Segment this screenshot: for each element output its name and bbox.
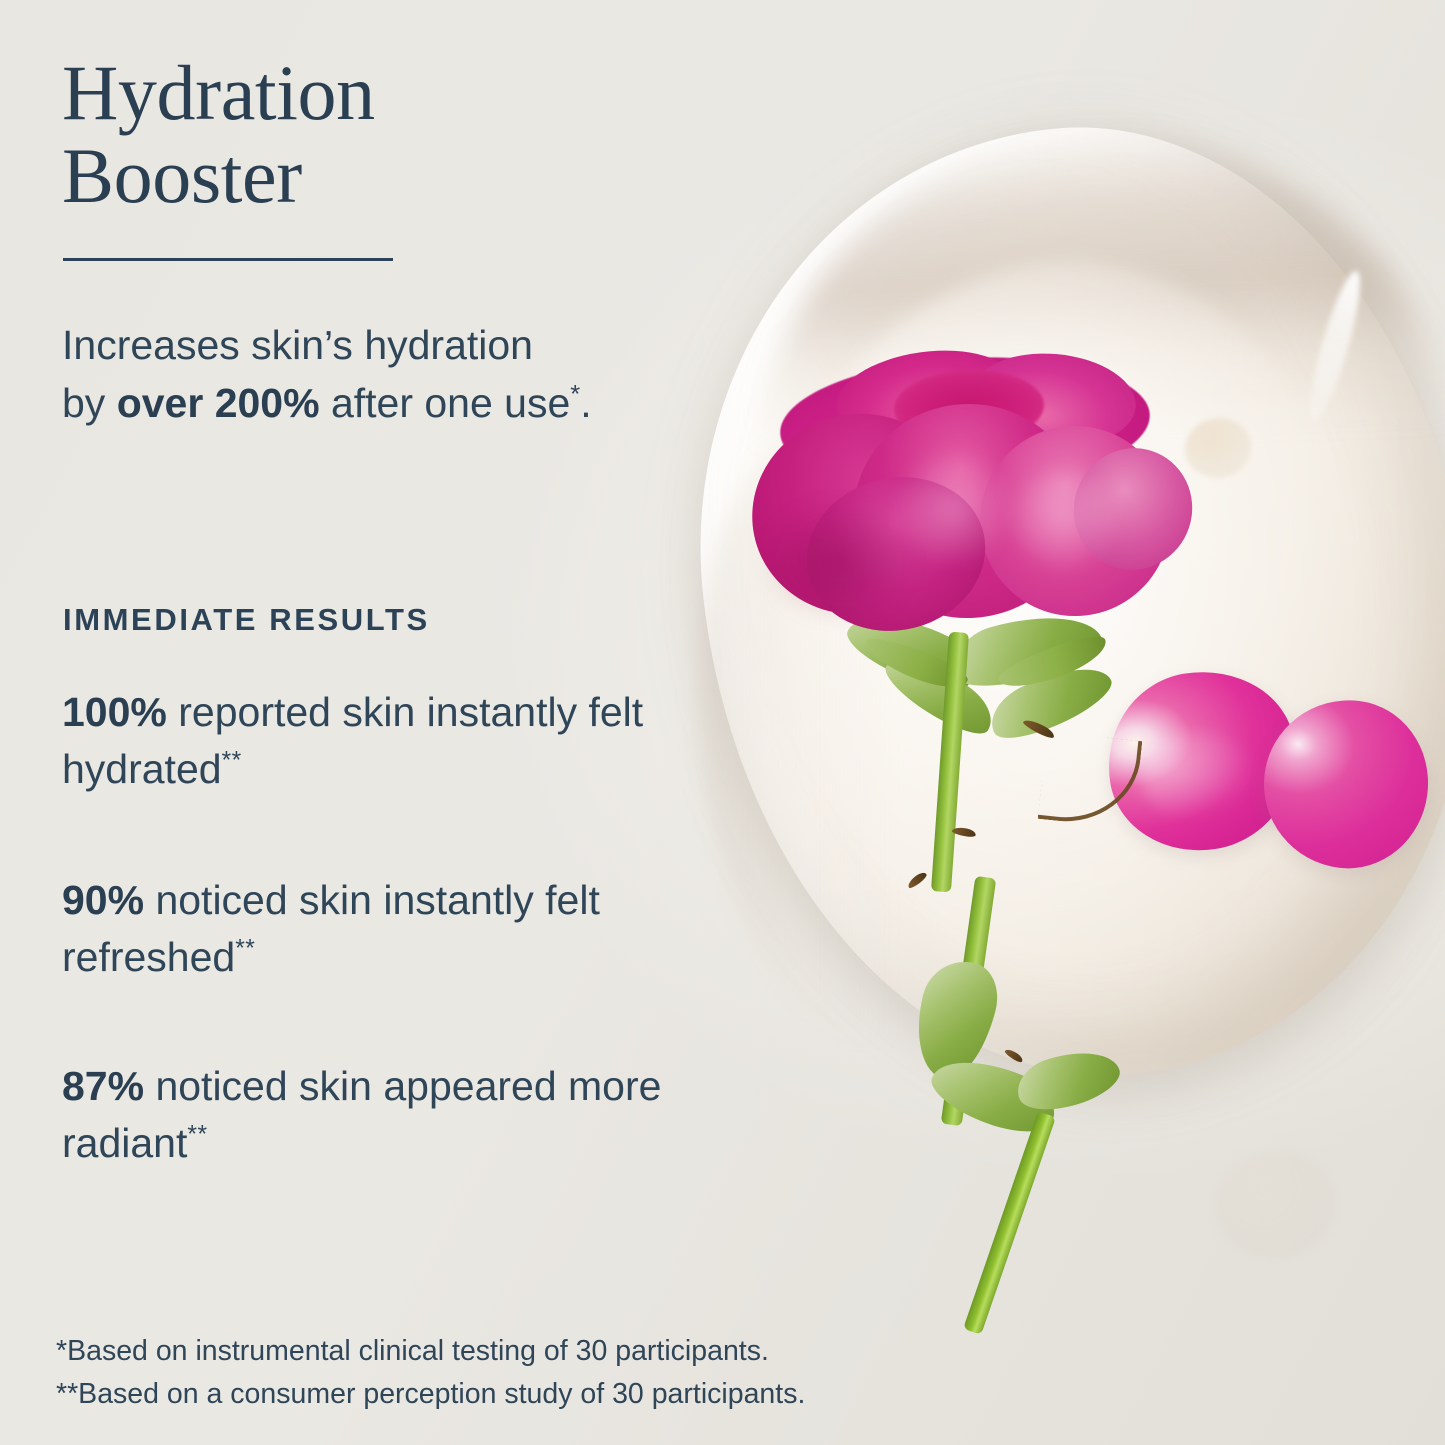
result-stat-marker: ** [222,747,242,774]
lede-footnote-marker: * [570,381,580,409]
result-stat-value: 100% [62,689,167,735]
lede-line-1: Increases skin’s hydration [62,322,533,368]
lede-emphasis: over 200% [117,380,320,426]
lede-claim: Increases skin’s hydration by over 200% … [62,316,762,432]
result-stat-value: 87% [62,1063,144,1109]
lede-period: . [580,380,591,426]
title-divider-rule [63,258,393,261]
result-stat-marker: ** [187,1121,207,1148]
lede-line-2-suffix: after one use [320,380,571,426]
footnote-double-asterisk: **Based on a consumer perception study o… [56,1373,1056,1416]
page-title: Hydration Booster [62,52,682,217]
lede-line-2-prefix: by [62,380,117,426]
result-stat-value: 90% [62,877,144,923]
footnote-single-asterisk: *Based on instrumental clinical testing … [56,1330,1056,1373]
footnotes: *Based on instrumental clinical testing … [56,1330,1056,1416]
result-stat-text: noticed skin appeared more radiant [62,1063,661,1166]
text-content: Hydration Booster Increases skin’s hydra… [0,0,1445,1445]
result-stat: 100% reported skin instantly felt hydrat… [62,684,762,797]
result-stat: 87% noticed skin appeared more radiant** [62,1058,762,1171]
product-benefit-poster: Hydration Booster Increases skin’s hydra… [0,0,1445,1445]
results-eyebrow: IMMEDIATE RESULTS [63,602,430,638]
result-stat-marker: ** [235,935,255,962]
result-stat: 90% noticed skin instantly felt refreshe… [62,872,762,985]
